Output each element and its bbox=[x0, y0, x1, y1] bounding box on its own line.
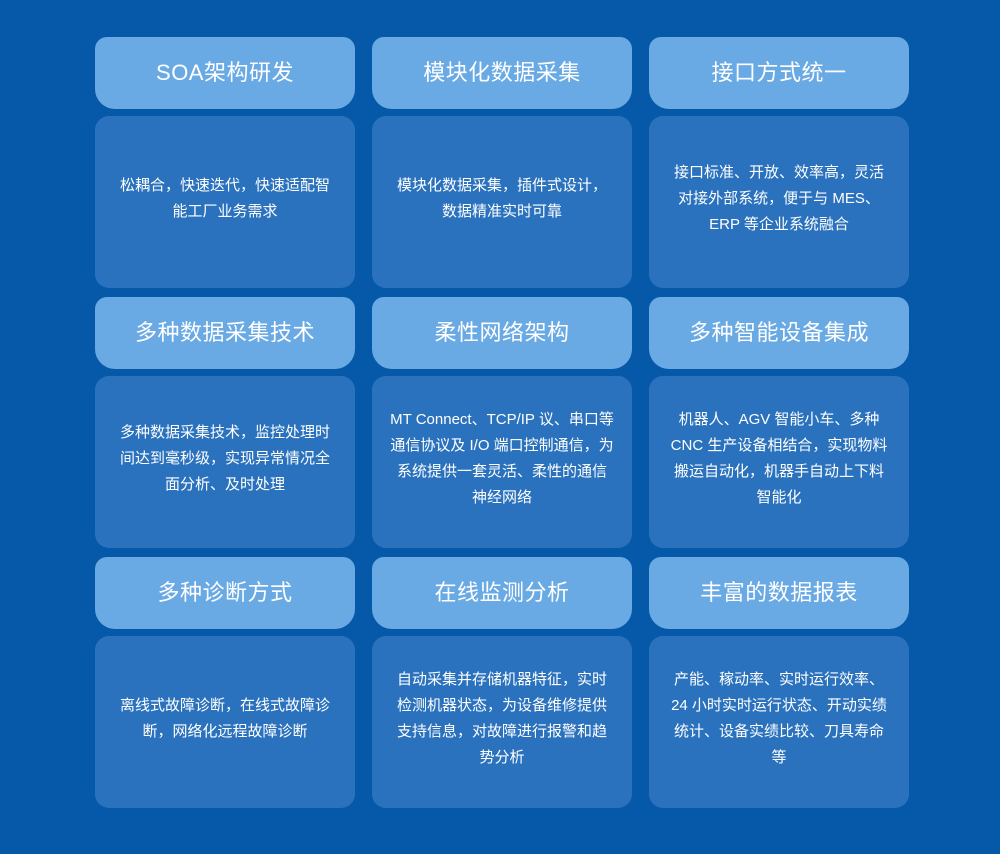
feature-card-body: 离线式故障诊断，在线式故障诊断，网络化远程故障诊断 bbox=[95, 636, 355, 808]
feature-card-description: MT Connect、TCP/IP 议、串口等通信协议及 I/O 端口控制通信，… bbox=[390, 407, 614, 510]
feature-card[interactable]: 多种数据采集技术 多种数据采集技术，监控处理时间达到毫秒级，实现异常情况全面分析… bbox=[95, 297, 355, 548]
feature-card-description: 离线式故障诊断，在线式故障诊断，网络化远程故障诊断 bbox=[113, 693, 337, 745]
feature-card-description: 松耦合，快速迭代，快速适配智能工厂业务需求 bbox=[113, 173, 337, 225]
feature-card-title: 丰富的数据报表 bbox=[700, 580, 858, 606]
feature-card-body: MT Connect、TCP/IP 议、串口等通信协议及 I/O 端口控制通信，… bbox=[372, 376, 632, 548]
feature-card-title: SOA架构研发 bbox=[156, 60, 294, 86]
feature-card-title: 柔性网络架构 bbox=[434, 320, 569, 346]
feature-card-body: 松耦合，快速迭代，快速适配智能工厂业务需求 bbox=[95, 116, 355, 288]
feature-card-header: 柔性网络架构 bbox=[372, 297, 632, 369]
feature-card-title: 多种数据采集技术 bbox=[135, 320, 315, 346]
feature-card-title: 在线监测分析 bbox=[434, 580, 569, 606]
feature-card-header: 多种数据采集技术 bbox=[95, 297, 355, 369]
feature-card-header: 接口方式统一 bbox=[649, 37, 909, 109]
feature-board: SOA架构研发 松耦合，快速迭代，快速适配智能工厂业务需求 模块化数据采集 模块… bbox=[0, 0, 1000, 854]
feature-card-title: 模块化数据采集 bbox=[423, 60, 581, 86]
feature-card-description: 机器人、AGV 智能小车、多种 CNC 生产设备相结合，实现物料搬运自动化，机器… bbox=[667, 407, 891, 510]
feature-card-title: 接口方式统一 bbox=[711, 60, 846, 86]
feature-card-body: 模块化数据采集，插件式设计，数据精准实时可靠 bbox=[372, 116, 632, 288]
feature-card[interactable]: 模块化数据采集 模块化数据采集，插件式设计，数据精准实时可靠 bbox=[372, 37, 632, 288]
feature-card-description: 模块化数据采集，插件式设计，数据精准实时可靠 bbox=[390, 173, 614, 225]
feature-card[interactable]: 多种诊断方式 离线式故障诊断，在线式故障诊断，网络化远程故障诊断 bbox=[95, 557, 355, 808]
feature-card-body: 多种数据采集技术，监控处理时间达到毫秒级，实现异常情况全面分析、及时处理 bbox=[95, 376, 355, 548]
feature-card[interactable]: SOA架构研发 松耦合，快速迭代，快速适配智能工厂业务需求 bbox=[95, 37, 355, 288]
feature-card-title: 多种智能设备集成 bbox=[689, 320, 869, 346]
feature-card-header: SOA架构研发 bbox=[95, 37, 355, 109]
feature-card-description: 接口标准、开放、效率高，灵活对接外部系统，便于与 MES、ERP 等企业系统融合 bbox=[667, 160, 891, 237]
feature-card-description: 自动采集并存储机器特征，实时检测机器状态，为设备维修提供支持信息，对故障进行报警… bbox=[390, 667, 614, 770]
feature-card-header: 在线监测分析 bbox=[372, 557, 632, 629]
feature-card-header: 丰富的数据报表 bbox=[649, 557, 909, 629]
feature-card-body: 接口标准、开放、效率高，灵活对接外部系统，便于与 MES、ERP 等企业系统融合 bbox=[649, 116, 909, 288]
feature-card-header: 多种诊断方式 bbox=[95, 557, 355, 629]
feature-card-grid: SOA架构研发 松耦合，快速迭代，快速适配智能工厂业务需求 模块化数据采集 模块… bbox=[95, 37, 905, 800]
feature-card-body: 自动采集并存储机器特征，实时检测机器状态，为设备维修提供支持信息，对故障进行报警… bbox=[372, 636, 632, 808]
feature-card-body: 机器人、AGV 智能小车、多种 CNC 生产设备相结合，实现物料搬运自动化，机器… bbox=[649, 376, 909, 548]
feature-card[interactable]: 多种智能设备集成 机器人、AGV 智能小车、多种 CNC 生产设备相结合，实现物… bbox=[649, 297, 909, 548]
feature-card[interactable]: 在线监测分析 自动采集并存储机器特征，实时检测机器状态，为设备维修提供支持信息，… bbox=[372, 557, 632, 808]
feature-card[interactable]: 接口方式统一 接口标准、开放、效率高，灵活对接外部系统，便于与 MES、ERP … bbox=[649, 37, 909, 288]
feature-card[interactable]: 柔性网络架构 MT Connect、TCP/IP 议、串口等通信协议及 I/O … bbox=[372, 297, 632, 548]
feature-card-body: 产能、稼动率、实时运行效率、24 小时实时运行状态、开动实绩统计、设备实绩比较、… bbox=[649, 636, 909, 808]
feature-card-header: 多种智能设备集成 bbox=[649, 297, 909, 369]
feature-card[interactable]: 丰富的数据报表 产能、稼动率、实时运行效率、24 小时实时运行状态、开动实绩统计… bbox=[649, 557, 909, 808]
feature-card-header: 模块化数据采集 bbox=[372, 37, 632, 109]
feature-card-description: 多种数据采集技术，监控处理时间达到毫秒级，实现异常情况全面分析、及时处理 bbox=[113, 420, 337, 497]
feature-card-title: 多种诊断方式 bbox=[157, 580, 292, 606]
feature-card-description: 产能、稼动率、实时运行效率、24 小时实时运行状态、开动实绩统计、设备实绩比较、… bbox=[667, 667, 891, 770]
